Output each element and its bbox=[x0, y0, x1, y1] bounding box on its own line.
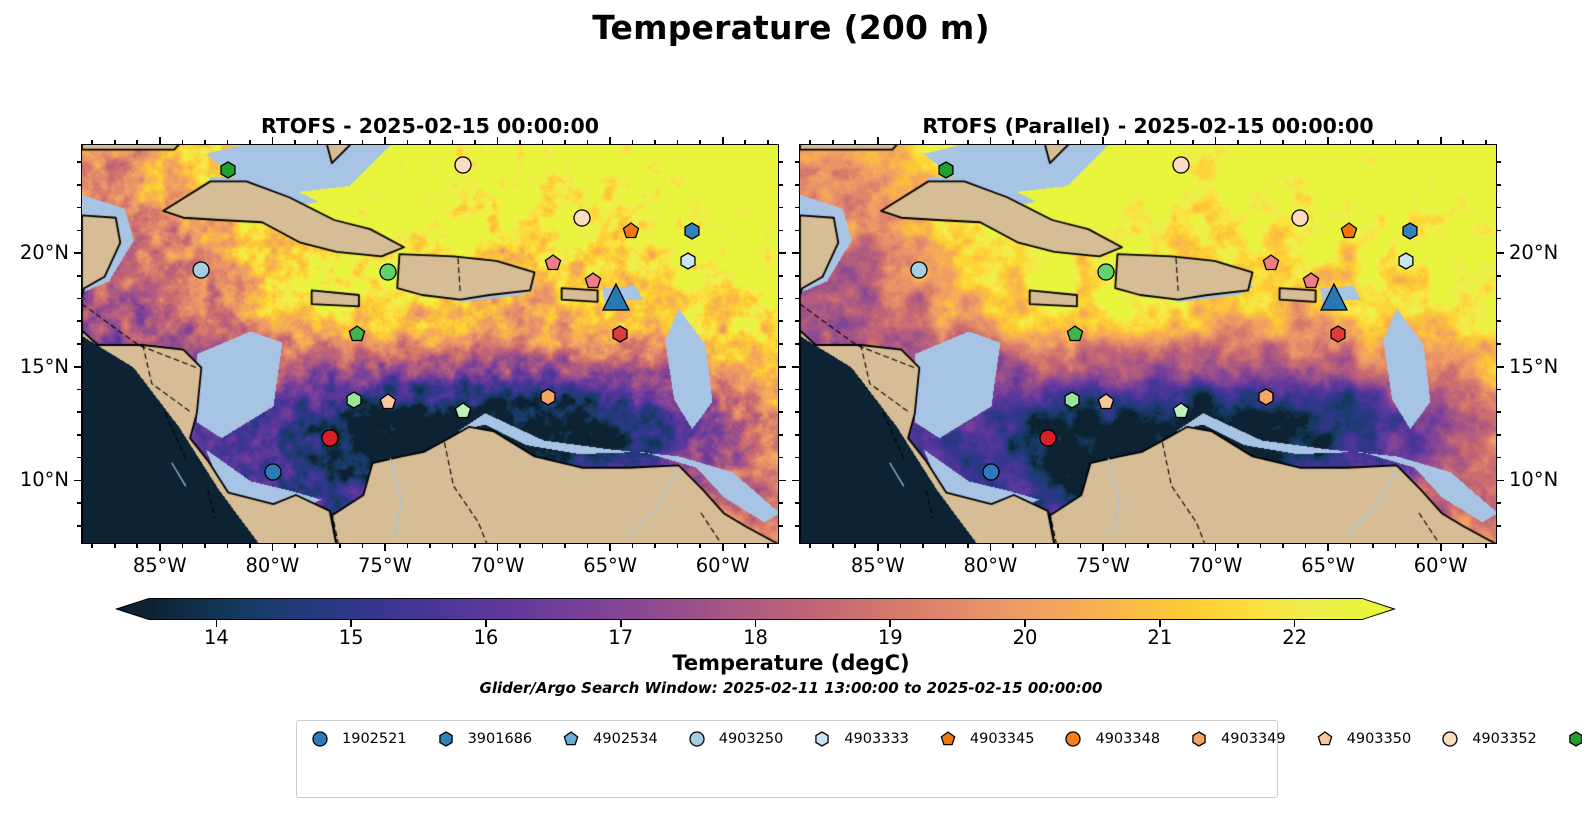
legend-item-4903345[interactable]: 4903345 bbox=[935, 728, 1035, 749]
lon-tick-minor bbox=[204, 544, 206, 548]
lon-tick-minor bbox=[900, 544, 902, 548]
colorbar-extend-high-icon bbox=[1362, 598, 1396, 620]
colorbar-tick-label: 21 bbox=[1130, 628, 1190, 648]
legend-item-3901686[interactable]: 3901686 bbox=[433, 728, 533, 749]
lat-tick-minor bbox=[779, 298, 783, 300]
lat-tick-minor bbox=[77, 434, 81, 436]
lon-tick bbox=[609, 544, 611, 551]
lon-tick bbox=[877, 137, 879, 144]
lon-tick-minor bbox=[407, 140, 409, 144]
lon-tick-label: 65°W bbox=[1278, 556, 1378, 576]
lon-tick bbox=[272, 544, 274, 551]
lon-tick bbox=[609, 137, 611, 144]
lon-tick-minor bbox=[1192, 140, 1194, 144]
colorbar-tick-label: 16 bbox=[456, 628, 516, 648]
panel-title-rtofs: RTOFS - 2025-02-15 00:00:00 bbox=[81, 114, 779, 138]
lon-tick-label: 80°W bbox=[222, 556, 322, 576]
lon-tick-minor bbox=[854, 140, 856, 144]
legend-item-4903354[interactable]: 4903354 bbox=[1563, 728, 1582, 749]
lat-tick-minor bbox=[795, 389, 799, 391]
platform-marker-uvi_02-20250211T1347[interactable] bbox=[1319, 282, 1349, 316]
lon-tick-minor bbox=[1260, 140, 1262, 144]
lon-tick-minor bbox=[91, 140, 93, 144]
lon-tick-minor bbox=[519, 140, 521, 144]
legend-label: 1902521 bbox=[342, 731, 407, 747]
temperature-field bbox=[800, 145, 1497, 544]
lon-tick-minor bbox=[1305, 544, 1307, 548]
lon-tick-minor bbox=[339, 140, 341, 144]
lon-tick-minor bbox=[362, 544, 364, 548]
lon-tick bbox=[497, 544, 499, 551]
legend-item-4902534[interactable]: 4902534 bbox=[558, 728, 658, 749]
lat-tick-minor bbox=[1497, 343, 1501, 345]
lon-tick-minor bbox=[204, 140, 206, 144]
lat-tick bbox=[74, 480, 81, 482]
lon-tick-minor bbox=[429, 544, 431, 548]
lon-tick-label: 75°W bbox=[335, 556, 435, 576]
lon-tick bbox=[497, 137, 499, 144]
lat-tick-minor bbox=[795, 184, 799, 186]
legend-marker-pentagon-icon bbox=[1312, 729, 1338, 748]
platform-marker-4903349[interactable] bbox=[1256, 387, 1276, 411]
lat-tick-minor bbox=[779, 184, 783, 186]
legend-label: 3901686 bbox=[468, 731, 533, 747]
legend-label: 4903250 bbox=[719, 731, 784, 747]
lon-tick-minor bbox=[1080, 140, 1082, 144]
lat-tick-minor bbox=[77, 230, 81, 232]
legend-item-4903352[interactable]: 4903352 bbox=[1437, 728, 1537, 749]
lon-tick-minor bbox=[317, 544, 319, 548]
lon-tick-minor bbox=[1462, 544, 1464, 548]
lon-tick-minor bbox=[922, 140, 924, 144]
search-window-text: Glider/Argo Search Window: 2025-02-11 13… bbox=[0, 679, 1582, 697]
lon-tick-minor bbox=[1395, 544, 1397, 548]
colorbar-tick-label: 15 bbox=[321, 628, 381, 648]
lon-tick-label: 60°W bbox=[673, 556, 773, 576]
lat-tick-minor bbox=[795, 525, 799, 527]
platform-marker-3901686[interactable] bbox=[1400, 221, 1420, 245]
lat-tick-minor bbox=[795, 411, 799, 413]
legend-marker-hexagon-icon bbox=[433, 729, 459, 748]
lon-tick-minor bbox=[699, 140, 701, 144]
lon-tick-label: 70°W bbox=[448, 556, 548, 576]
lat-tick-minor bbox=[1497, 230, 1501, 232]
lat-tick bbox=[779, 252, 786, 254]
platform-marker-4903352[interactable] bbox=[453, 155, 473, 179]
lon-tick-minor bbox=[922, 544, 924, 548]
lat-tick-minor bbox=[779, 502, 783, 504]
lat-tick-minor bbox=[77, 298, 81, 300]
platform-marker-4903561[interactable] bbox=[1096, 262, 1116, 286]
lon-tick-label: 65°W bbox=[560, 556, 660, 576]
legend-label: 4903345 bbox=[970, 731, 1035, 747]
lat-tick-minor bbox=[77, 525, 81, 527]
lat-tick-minor bbox=[1497, 525, 1501, 527]
lat-tick-minor bbox=[779, 343, 783, 345]
platform-marker-4903350[interactable] bbox=[378, 392, 398, 416]
lon-tick bbox=[1215, 544, 1217, 551]
platform-marker-4903352b[interactable] bbox=[572, 208, 592, 232]
lon-tick-minor bbox=[832, 140, 834, 144]
lon-tick bbox=[1215, 137, 1217, 144]
lat-tick-minor bbox=[1497, 184, 1501, 186]
lon-tick-label: 85°W bbox=[828, 556, 928, 576]
lat-tick-minor bbox=[779, 389, 783, 391]
platform-marker-4903354[interactable] bbox=[218, 160, 238, 184]
colorbar-tick-label: 18 bbox=[726, 628, 786, 648]
lon-tick-minor bbox=[1125, 140, 1127, 144]
map-panel-rtofs-parallel: RTOFS (Parallel) - 2025-02-15 00:00:00 bbox=[799, 144, 1497, 544]
lon-tick-minor bbox=[677, 544, 679, 548]
lon-tick-minor bbox=[900, 140, 902, 144]
lon-tick-minor bbox=[227, 140, 229, 144]
legend-marker-circle-icon bbox=[307, 729, 333, 748]
legend-marker-pentagon-icon bbox=[935, 729, 961, 748]
lon-tick-label: 60°W bbox=[1391, 556, 1491, 576]
lat-tick bbox=[792, 480, 799, 482]
lat-tick-minor bbox=[1497, 161, 1501, 163]
legend-item-4903250[interactable]: 4903250 bbox=[684, 728, 784, 749]
lon-tick-minor bbox=[452, 544, 454, 548]
lon-tick-minor bbox=[809, 140, 811, 144]
lon-tick-minor bbox=[654, 140, 656, 144]
lon-tick-minor bbox=[1237, 544, 1239, 548]
platform-marker-4903766[interactable] bbox=[344, 390, 364, 414]
lon-tick-label: 75°W bbox=[1053, 556, 1153, 576]
colorbar-tick-label: 22 bbox=[1265, 628, 1325, 648]
platform-marker-4903349[interactable] bbox=[538, 387, 558, 411]
lat-tick-label: 20°N bbox=[0, 243, 69, 263]
platform-marker-4903558[interactable] bbox=[1065, 324, 1085, 348]
lat-tick-minor bbox=[1497, 411, 1501, 413]
legend-label: 4903348 bbox=[1095, 731, 1160, 747]
platform-marker-4903768[interactable] bbox=[320, 428, 340, 452]
lon-tick-minor bbox=[587, 140, 589, 144]
lon-tick-minor bbox=[854, 544, 856, 548]
lat-tick bbox=[74, 366, 81, 368]
lat-tick bbox=[1497, 252, 1504, 254]
lon-tick-minor bbox=[1395, 140, 1397, 144]
map-frame-rtofs[interactable] bbox=[81, 144, 779, 544]
map-frame-rtofs-parallel[interactable] bbox=[799, 144, 1497, 544]
lon-tick-minor bbox=[1057, 544, 1059, 548]
colorbar-tick-label: 19 bbox=[860, 628, 920, 648]
lat-tick-minor bbox=[77, 389, 81, 391]
lat-tick-minor bbox=[1497, 207, 1501, 209]
lon-tick-minor bbox=[1125, 544, 1127, 548]
legend-label: 4903350 bbox=[1347, 731, 1412, 747]
lon-tick-minor bbox=[1035, 544, 1037, 548]
lat-tick bbox=[1497, 366, 1504, 368]
lat-tick-minor bbox=[795, 343, 799, 345]
platform-marker-6903111[interactable] bbox=[610, 324, 630, 348]
colorbar: 141516171819202122 bbox=[0, 595, 1582, 629]
lon-tick-minor bbox=[182, 140, 184, 144]
legend-item-4903348[interactable]: 4903348 bbox=[1060, 728, 1160, 749]
colorbar-body bbox=[149, 598, 1362, 620]
legend-item-1902521[interactable]: 1902521 bbox=[307, 728, 407, 749]
lat-tick-minor bbox=[77, 343, 81, 345]
temperature-field bbox=[82, 145, 779, 544]
lat-tick-label: 15°N bbox=[1509, 357, 1582, 377]
lon-tick-label: 70°W bbox=[1166, 556, 1266, 576]
lon-tick-minor bbox=[227, 544, 229, 548]
lat-tick bbox=[779, 480, 786, 482]
lon-tick-minor bbox=[1305, 140, 1307, 144]
lon-tick-minor bbox=[114, 140, 116, 144]
platform-marker-4903767[interactable] bbox=[1171, 401, 1191, 425]
lat-tick-minor bbox=[1497, 275, 1501, 277]
lat-tick-label: 20°N bbox=[1509, 243, 1582, 263]
lat-tick-minor bbox=[77, 184, 81, 186]
lon-tick-minor bbox=[452, 140, 454, 144]
legend-item-4903333[interactable]: 4903333 bbox=[809, 728, 909, 749]
lat-tick-minor bbox=[795, 502, 799, 504]
lon-tick-minor bbox=[1372, 140, 1374, 144]
lon-tick-minor bbox=[699, 544, 701, 548]
platform-marker-4903350[interactable] bbox=[1096, 392, 1116, 416]
lon-tick-minor bbox=[632, 544, 634, 548]
platform-marker-4903352b[interactable] bbox=[1290, 208, 1310, 232]
platform-marker-4903558[interactable] bbox=[347, 324, 367, 348]
lat-tick-minor bbox=[1497, 434, 1501, 436]
lon-tick-minor bbox=[1485, 140, 1487, 144]
platform-marker-6903111[interactable] bbox=[1328, 324, 1348, 348]
lon-tick bbox=[272, 137, 274, 144]
colorbar-tick-label: 14 bbox=[186, 628, 246, 648]
lat-tick-minor bbox=[1497, 457, 1501, 459]
lon-tick-minor bbox=[945, 140, 947, 144]
lon-tick-minor bbox=[744, 140, 746, 144]
lon-tick-minor bbox=[767, 140, 769, 144]
lon-tick-minor bbox=[429, 140, 431, 144]
lon-tick-minor bbox=[339, 544, 341, 548]
map-canvas-rtofs-parallel bbox=[800, 145, 1496, 543]
lon-tick-minor bbox=[1170, 544, 1172, 548]
lon-tick-minor bbox=[136, 544, 138, 548]
lat-tick-minor bbox=[77, 457, 81, 459]
lat-tick-minor bbox=[795, 275, 799, 277]
platform-marker-1902521[interactable] bbox=[981, 462, 1001, 486]
platform-marker-4903768[interactable] bbox=[1038, 428, 1058, 452]
legend-marker-hexagon-icon bbox=[1563, 729, 1582, 748]
lon-tick bbox=[877, 544, 879, 551]
lon-tick-minor bbox=[1192, 544, 1194, 548]
legend-item-4903349[interactable]: 4903349 bbox=[1186, 728, 1286, 749]
lon-tick-minor bbox=[1417, 544, 1419, 548]
lon-tick bbox=[1440, 544, 1442, 551]
lon-tick-minor bbox=[564, 544, 566, 548]
lon-tick-minor bbox=[249, 140, 251, 144]
lon-tick-minor bbox=[967, 140, 969, 144]
lon-tick bbox=[1102, 137, 1104, 144]
lon-tick-minor bbox=[136, 140, 138, 144]
lon-tick-minor bbox=[294, 544, 296, 548]
lon-tick bbox=[990, 544, 992, 551]
lat-tick-minor bbox=[1497, 298, 1501, 300]
map-panel-rtofs: RTOFS - 2025-02-15 00:00:00 bbox=[81, 144, 779, 544]
lon-tick-minor bbox=[294, 140, 296, 144]
lat-tick-minor bbox=[1497, 320, 1501, 322]
lat-tick-label: 15°N bbox=[0, 357, 69, 377]
platform-marker-4903250[interactable] bbox=[191, 260, 211, 284]
lon-tick-label: 85°W bbox=[110, 556, 210, 576]
lat-tick-minor bbox=[77, 207, 81, 209]
figure-title: Temperature (200 m) bbox=[0, 8, 1582, 47]
legend-grid: 1902521390168649025344903250490333349033… bbox=[307, 728, 1267, 749]
colorbar-gradient bbox=[149, 599, 1362, 619]
legend-marker-hexagon-icon bbox=[1186, 729, 1212, 748]
lon-tick-minor bbox=[114, 544, 116, 548]
lat-tick-minor bbox=[795, 298, 799, 300]
platform-marker-1902521[interactable] bbox=[263, 462, 283, 486]
legend-label: 4903352 bbox=[1472, 731, 1537, 747]
lon-tick-minor bbox=[474, 140, 476, 144]
colorbar-title: Temperature (degC) bbox=[0, 651, 1582, 675]
lat-tick-minor bbox=[1497, 389, 1501, 391]
lon-tick-minor bbox=[1282, 544, 1284, 548]
lat-tick-minor bbox=[77, 320, 81, 322]
lat-tick-label: 10°N bbox=[0, 470, 69, 490]
lon-tick-minor bbox=[632, 140, 634, 144]
lat-tick-minor bbox=[77, 502, 81, 504]
lon-tick-minor bbox=[1170, 140, 1172, 144]
lon-tick-minor bbox=[744, 544, 746, 548]
lon-tick-minor bbox=[542, 544, 544, 548]
colorbar-tick-label: 17 bbox=[591, 628, 651, 648]
lat-tick-minor bbox=[77, 161, 81, 163]
colorbar-extend-low-icon bbox=[115, 598, 149, 620]
platform-marker-4903767[interactable] bbox=[453, 401, 473, 425]
lon-tick bbox=[1440, 137, 1442, 144]
lat-tick bbox=[74, 252, 81, 254]
lon-tick bbox=[159, 544, 161, 551]
platform-marker-4903250[interactable] bbox=[909, 260, 929, 284]
lon-tick-minor bbox=[182, 544, 184, 548]
lat-tick bbox=[792, 252, 799, 254]
lon-tick-minor bbox=[767, 544, 769, 548]
lon-tick-minor bbox=[1282, 140, 1284, 144]
lon-tick-minor bbox=[1485, 544, 1487, 548]
legend-label: 4903349 bbox=[1221, 731, 1286, 747]
platform-marker-3901686[interactable] bbox=[682, 221, 702, 245]
lon-tick-minor bbox=[1372, 544, 1374, 548]
map-canvas-rtofs bbox=[82, 145, 778, 543]
legend-label: 4903333 bbox=[844, 731, 909, 747]
platform-marker-4903345[interactable] bbox=[1339, 221, 1359, 245]
lat-tick bbox=[1497, 480, 1504, 482]
lon-tick-minor bbox=[809, 544, 811, 548]
lon-tick-minor bbox=[945, 544, 947, 548]
lat-tick-minor bbox=[779, 320, 783, 322]
lon-tick-minor bbox=[519, 544, 521, 548]
lon-tick-minor bbox=[1147, 140, 1149, 144]
legend-marker-circle-icon bbox=[684, 729, 710, 748]
platform-marker-4903345[interactable] bbox=[621, 221, 641, 245]
lon-tick-minor bbox=[587, 544, 589, 548]
lon-tick-minor bbox=[1417, 140, 1419, 144]
lon-tick-minor bbox=[1350, 544, 1352, 548]
lon-tick-minor bbox=[407, 544, 409, 548]
lat-tick-minor bbox=[779, 161, 783, 163]
legend: 1902521390168649025344903250490333349033… bbox=[296, 720, 1278, 798]
colorbar-tick-label: 20 bbox=[995, 628, 1055, 648]
lon-tick-minor bbox=[832, 544, 834, 548]
lat-tick bbox=[792, 366, 799, 368]
lon-tick-minor bbox=[1147, 544, 1149, 548]
platform-marker-4903333[interactable] bbox=[678, 251, 698, 275]
panel-title-rtofs-parallel: RTOFS (Parallel) - 2025-02-15 00:00:00 bbox=[799, 114, 1497, 138]
lon-tick-minor bbox=[1012, 544, 1014, 548]
legend-marker-circle-icon bbox=[1437, 729, 1463, 748]
lon-tick bbox=[1327, 137, 1329, 144]
platform-marker-4903352[interactable] bbox=[1171, 155, 1191, 179]
platform-marker-4903561[interactable] bbox=[378, 262, 398, 286]
lon-tick-minor bbox=[1260, 544, 1262, 548]
lat-tick-minor bbox=[779, 411, 783, 413]
lon-tick-minor bbox=[1462, 140, 1464, 144]
platform-marker-4903354[interactable] bbox=[936, 160, 956, 184]
lat-tick-minor bbox=[77, 411, 81, 413]
lon-tick-minor bbox=[564, 140, 566, 144]
lon-tick-minor bbox=[1035, 140, 1037, 144]
lon-tick-minor bbox=[1057, 140, 1059, 144]
platform-marker-6903727[interactable] bbox=[1261, 253, 1281, 277]
lat-tick-minor bbox=[779, 230, 783, 232]
lon-tick-minor bbox=[1350, 140, 1352, 144]
platform-marker-uvi_02-20250211T1347[interactable] bbox=[601, 282, 631, 316]
lon-tick-label: 80°W bbox=[940, 556, 1040, 576]
lat-tick-label: 10°N bbox=[1509, 470, 1582, 490]
lon-tick bbox=[1102, 544, 1104, 551]
lat-tick-minor bbox=[795, 457, 799, 459]
lon-tick-minor bbox=[1080, 544, 1082, 548]
lat-tick-minor bbox=[795, 230, 799, 232]
lon-tick bbox=[1327, 544, 1329, 551]
lon-tick-minor bbox=[91, 544, 93, 548]
platform-marker-6903727[interactable] bbox=[543, 253, 563, 277]
lat-tick bbox=[779, 366, 786, 368]
lon-tick-minor bbox=[317, 140, 319, 144]
legend-label: 4902534 bbox=[593, 731, 658, 747]
lon-tick-minor bbox=[362, 140, 364, 144]
lon-tick-minor bbox=[542, 140, 544, 144]
lat-tick-minor bbox=[779, 434, 783, 436]
lat-tick-minor bbox=[795, 161, 799, 163]
lat-tick-minor bbox=[795, 320, 799, 322]
platform-marker-4903333[interactable] bbox=[1396, 251, 1416, 275]
lon-tick bbox=[159, 137, 161, 144]
lat-tick-minor bbox=[795, 434, 799, 436]
lon-tick bbox=[990, 137, 992, 144]
lon-tick bbox=[722, 137, 724, 144]
lon-tick-minor bbox=[1237, 140, 1239, 144]
lon-tick-minor bbox=[1012, 140, 1014, 144]
legend-marker-circle-icon bbox=[1060, 729, 1086, 748]
lat-tick-minor bbox=[779, 275, 783, 277]
lon-tick bbox=[384, 137, 386, 144]
platform-marker-4903766[interactable] bbox=[1062, 390, 1082, 414]
lon-tick-minor bbox=[474, 544, 476, 548]
legend-marker-pentagon-icon bbox=[558, 729, 584, 748]
lat-tick-minor bbox=[1497, 502, 1501, 504]
legend-item-4903350[interactable]: 4903350 bbox=[1312, 728, 1412, 749]
lat-tick-minor bbox=[77, 275, 81, 277]
lat-tick-minor bbox=[779, 457, 783, 459]
legend-marker-hexagon-icon bbox=[809, 729, 835, 748]
lon-tick bbox=[722, 544, 724, 551]
lon-tick-minor bbox=[677, 140, 679, 144]
